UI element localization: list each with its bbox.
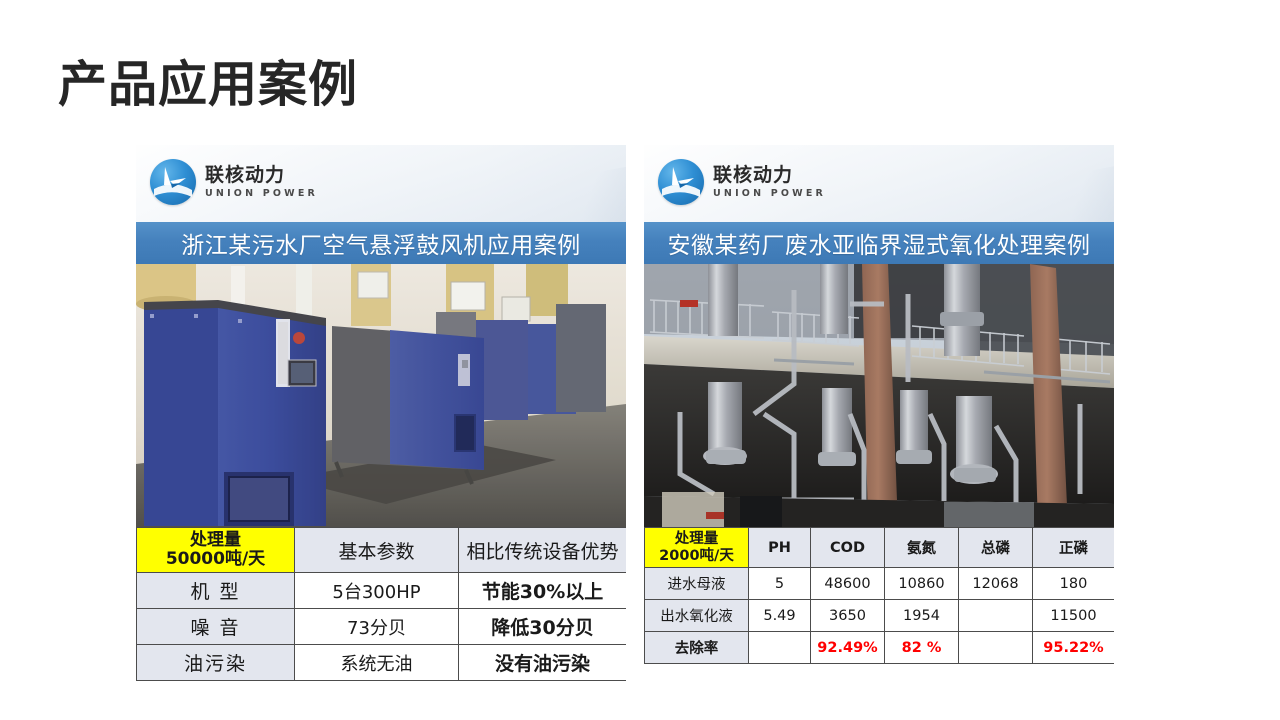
table-row: 去除率 92.49% 82 % 95.22% (645, 632, 1115, 664)
table-row: 噪 音 73分贝 降低30分贝 (137, 609, 627, 645)
column-header-total-phosphorus: 总磷 (959, 528, 1033, 568)
case-panel-right: 联核动力 UNION POWER 安徽某药厂废水亚临界湿式氧化处理案例 (644, 145, 1114, 664)
union-power-logo-icon (658, 159, 704, 205)
column-header-ph: PH (749, 528, 811, 568)
brand-name-cn: 联核动力 (713, 166, 826, 185)
processing-capacity-cell: 处理量 2000吨/天 (645, 528, 749, 568)
capacity-value: 2000吨/天 (645, 548, 748, 564)
influent-ph: 5 (749, 568, 811, 600)
row-advantage-oil: 没有油污染 (459, 645, 627, 681)
brand-name-cn: 联核动力 (205, 166, 318, 185)
influent-total-p: 12068 (959, 568, 1033, 600)
panel-header-left: 联核动力 UNION POWER (136, 145, 626, 222)
row-advantage-model: 节能30%以上 (459, 573, 627, 609)
row-value-oil: 系统无油 (295, 645, 459, 681)
case-banner-right: 安徽某药厂废水亚临界湿式氧化处理案例 (644, 222, 1114, 264)
row-label-noise: 噪 音 (137, 609, 295, 645)
row-value-model: 5台300HP (295, 573, 459, 609)
case-photo-right (644, 264, 1114, 527)
column-header-cod: COD (811, 528, 885, 568)
row-label-oil: 油污染 (137, 645, 295, 681)
row-label-removal-rate: 去除率 (645, 632, 749, 664)
row-label-influent: 进水母液 (645, 568, 749, 600)
removal-cod: 92.49% (811, 632, 885, 664)
row-label-effluent: 出水氧化液 (645, 600, 749, 632)
effluent-ammonia: 1954 (885, 600, 959, 632)
removal-ortho-p: 95.22% (1033, 632, 1115, 664)
column-header-advantage: 相比传统设备优势 (459, 528, 627, 573)
effluent-ortho-p: 11500 (1033, 600, 1115, 632)
column-header-orthophosphate: 正磷 (1033, 528, 1115, 568)
removal-ph (749, 632, 811, 664)
case-table-right: 处理量 2000吨/天 PH COD 氨氮 总磷 正磷 进水母液 5 48600… (644, 527, 1114, 664)
table-header-row: 处理量 50000吨/天 基本参数 相比传统设备优势 (137, 528, 627, 573)
case-photo-left (136, 264, 626, 527)
table-row: 进水母液 5 48600 10860 12068 180 (645, 568, 1115, 600)
effluent-total-p (959, 600, 1033, 632)
union-power-logo-icon (150, 159, 196, 205)
brand-name-en: UNION POWER (713, 189, 826, 199)
column-header-ammonia-nitrogen: 氨氮 (885, 528, 959, 568)
influent-ortho-p: 180 (1033, 568, 1115, 600)
processing-capacity-cell: 处理量 50000吨/天 (137, 528, 295, 573)
row-advantage-noise: 降低30分贝 (459, 609, 627, 645)
case-panel-left: 联核动力 UNION POWER 浙江某污水厂空气悬浮鼓风机应用案例 (136, 145, 626, 681)
removal-ammonia: 82 % (885, 632, 959, 664)
capacity-value: 50000吨/天 (137, 550, 294, 569)
case-table-left: 处理量 50000吨/天 基本参数 相比传统设备优势 机 型 5台300HP 节… (136, 527, 626, 681)
row-value-noise: 73分贝 (295, 609, 459, 645)
table-row: 油污染 系统无油 没有油污染 (137, 645, 627, 681)
panel-header-right: 联核动力 UNION POWER (644, 145, 1114, 222)
case-banner-left: 浙江某污水厂空气悬浮鼓风机应用案例 (136, 222, 626, 264)
influent-cod: 48600 (811, 568, 885, 600)
table-row: 出水氧化液 5.49 3650 1954 11500 (645, 600, 1115, 632)
effluent-cod: 3650 (811, 600, 885, 632)
influent-ammonia: 10860 (885, 568, 959, 600)
capacity-label: 处理量 (645, 531, 748, 547)
table-header-row: 处理量 2000吨/天 PH COD 氨氮 总磷 正磷 (645, 528, 1115, 568)
effluent-ph: 5.49 (749, 600, 811, 632)
column-header-basic-params: 基本参数 (295, 528, 459, 573)
removal-total-p (959, 632, 1033, 664)
page-title: 产品应用案例 (58, 58, 358, 112)
row-label-model: 机 型 (137, 573, 295, 609)
table-row: 机 型 5台300HP 节能30%以上 (137, 573, 627, 609)
brand-logo-left: 联核动力 UNION POWER (150, 159, 318, 205)
brand-name-en: UNION POWER (205, 189, 318, 199)
brand-logo-right: 联核动力 UNION POWER (658, 159, 826, 205)
capacity-label: 处理量 (137, 531, 294, 550)
